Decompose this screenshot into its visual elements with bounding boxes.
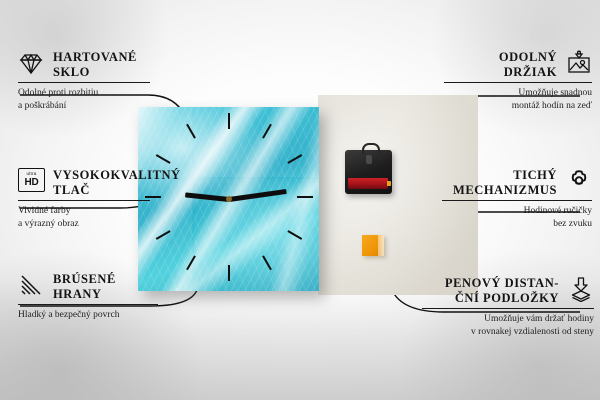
clock-mechanism	[345, 150, 392, 194]
clock-tick-3	[297, 196, 313, 198]
feature-title: TICHÝ MECHANIZMUS	[453, 168, 557, 197]
feature-title: HARTOVANÉ SKLO	[53, 50, 137, 79]
clock-tick-12	[228, 113, 230, 129]
diamond-icon	[18, 50, 44, 76]
feature-divider	[18, 82, 150, 83]
feature-description: Odolné proti rozbitiu a poškrábání	[18, 87, 150, 112]
clock-tick-6	[228, 265, 230, 281]
ultra-hd-icon-main-label: HD	[24, 178, 38, 188]
feature-description: Vividné farby a výrazný obraz	[18, 205, 150, 230]
beveled-edges-icon	[18, 272, 44, 298]
feature-divider	[18, 304, 158, 305]
feature-title: BRÚSENÉ HRANY	[53, 272, 116, 301]
feature-high-quality-print: ultra HD VYSOKOKVALITNÝ TLAČ Vividné far…	[18, 168, 150, 230]
feature-divider	[422, 308, 594, 309]
feature-tempered-glass: HARTOVANÉ SKLO Odolné proti rozbitiu a p…	[18, 50, 150, 112]
feature-divider	[442, 200, 592, 201]
feature-foam-spacers: PENOVÝ DISTAN- ČNÍ PODLOŽKY Umožňuje vám…	[422, 276, 594, 338]
framed-picture-icon	[566, 50, 592, 76]
mechanism-hook	[362, 143, 380, 154]
product-photo	[138, 95, 478, 295]
feature-durable-holder: ODOLNÝ DRŽIAK Umožňuje snadnou montáž ho…	[444, 50, 592, 112]
feature-title: ODOLNÝ DRŽIAK	[499, 50, 557, 79]
gear-icon	[566, 168, 592, 194]
clock-center-cap	[226, 196, 232, 202]
feature-silent-mechanism: TICHÝ MECHANIZMUS Hodinové ručičky bez z…	[442, 168, 592, 230]
feature-divider	[444, 82, 592, 83]
feature-ground-edges: BRÚSENÉ HRANY Hladký a bezpečný povrch	[18, 272, 158, 322]
feature-description: Umožňuje vám držať hodiny v rovnakej vzd…	[422, 313, 594, 338]
feature-title: PENOVÝ DISTAN- ČNÍ PODLOŽKY	[445, 276, 559, 305]
wall-clock	[138, 107, 319, 291]
mechanism-battery	[348, 178, 388, 189]
feature-description: Hladký a bezpečný povrch	[18, 309, 158, 322]
feature-divider	[18, 200, 150, 201]
mechanism-shaft	[366, 155, 372, 164]
ultra-hd-icon: ultra HD	[18, 168, 44, 194]
product-infographic: HARTOVANÉ SKLO Odolné proti rozbitiu a p…	[0, 0, 600, 400]
arrow-onto-layers-icon	[568, 276, 594, 302]
feature-description: Hodinové ručičky bez zvuku	[442, 205, 592, 230]
foam-spacer-pad	[362, 235, 384, 256]
feature-title: VYSOKOKVALITNÝ TLAČ	[53, 168, 181, 197]
feature-description: Umožňuje snadnou montáž hodín na zeď	[444, 87, 592, 112]
